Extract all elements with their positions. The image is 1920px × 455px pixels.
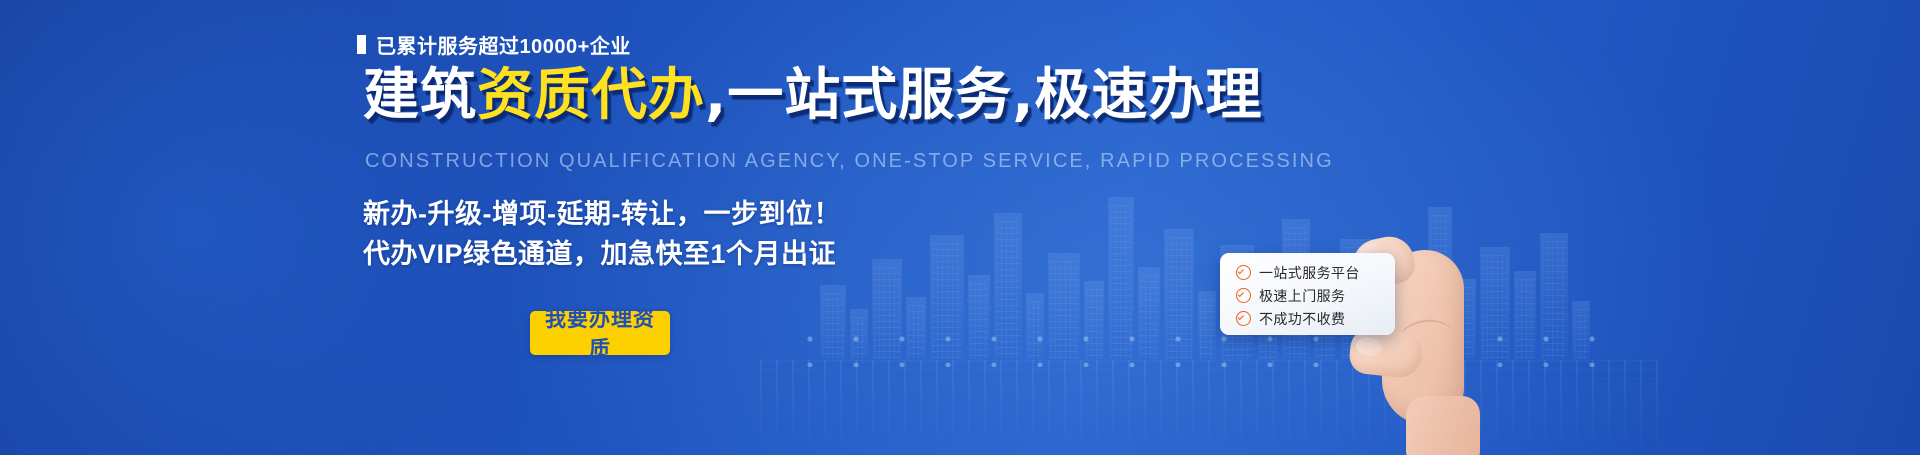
- feature-item-label: 不成功不收费: [1259, 309, 1345, 329]
- check-circle-icon: [1236, 265, 1251, 280]
- square-bullet-icon: [357, 35, 366, 54]
- eyebrow-text: 已累计服务超过10000+企业: [376, 30, 631, 59]
- construction-qualification-banner: 已累计服务超过10000+企业 建筑资质代办,一站式服务,极速办理 CONSTR…: [0, 0, 1920, 455]
- feature-item: 不成功不收费: [1236, 308, 1395, 329]
- hand-wrist: [1406, 396, 1480, 455]
- hand-holding-card: 一站式服务平台 极速上门服务 不成功不收费: [1180, 228, 1600, 455]
- eyebrow-badge: 已累计服务超过10000+企业: [357, 30, 631, 59]
- feature-item-label: 一站式服务平台: [1259, 263, 1360, 283]
- headline-part-2-highlight: 资质代办: [477, 63, 705, 128]
- headline-part-1: 建筑: [363, 63, 477, 128]
- headline-part-3: ,一站式服务,极速办理: [705, 63, 1263, 128]
- body-line-2: 代办VIP绿色通道，加急快至1个月出证: [363, 232, 836, 271]
- subtitle-english: CONSTRUCTION QUALIFICATION AGENCY, ONE-S…: [365, 150, 1334, 173]
- feature-item: 一站式服务平台: [1236, 262, 1395, 283]
- apply-qualification-button[interactable]: 我要办理资质: [530, 311, 670, 355]
- body-line-1: 新办-升级-增项-延期-转让，一步到位！: [363, 192, 841, 231]
- banner-content: 已累计服务超过10000+企业 建筑资质代办,一站式服务,极速办理 CONSTR…: [355, 0, 1155, 455]
- check-circle-icon: [1236, 288, 1251, 303]
- check-circle-icon: [1236, 311, 1251, 326]
- feature-item: 极速上门服务: [1236, 285, 1395, 306]
- feature-item-label: 极速上门服务: [1259, 286, 1345, 306]
- page-title: 建筑资质代办,一站式服务,极速办理: [363, 68, 1263, 124]
- feature-card: 一站式服务平台 极速上门服务 不成功不收费: [1220, 253, 1395, 335]
